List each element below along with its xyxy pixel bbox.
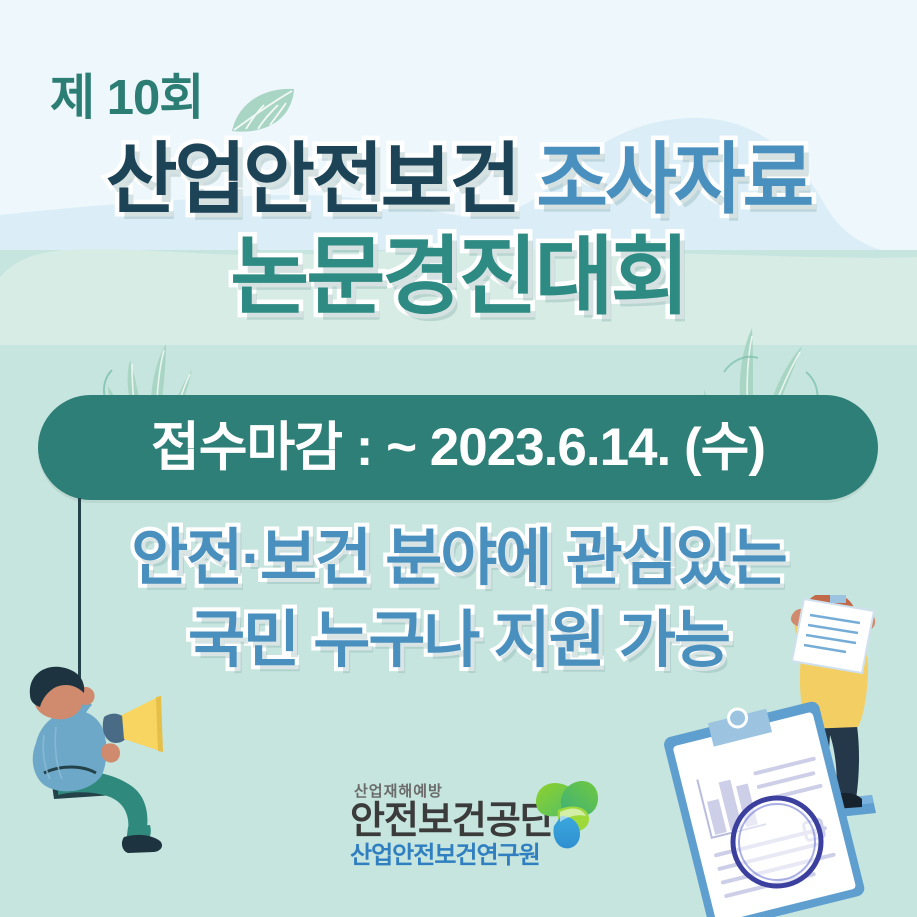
- deadline-label: 접수마감 : ~ 2023.6.14. (수): [151, 421, 765, 474]
- title-word-survey-data: 조사자료: [536, 140, 811, 218]
- subheadline-line-1: 안전·보건 분야에 관심있는: [0, 528, 917, 590]
- leaf-beside-kicker: [228, 85, 298, 137]
- kicker-text: 제 10회: [50, 74, 203, 123]
- title-line-1: 산업안전보건 조사자료: [0, 140, 917, 218]
- kosha-pinwheel-mark: [528, 776, 606, 854]
- title-word-paper-competition: 논문경진대회: [230, 234, 687, 320]
- poster-canvas: 제 10회 산업안전보건 조사자료 논문경진대회 접수마감 : ~ 2023.6…: [0, 0, 917, 917]
- title-line-2: 논문경진대회: [0, 234, 917, 320]
- title-word-industrial-safety-health: 산업안전보건: [106, 140, 519, 218]
- person-with-clipboard-and-magnifier-illustration: [650, 595, 917, 917]
- deadline-banner: 접수마감 : ~ 2023.6.14. (수): [38, 395, 878, 500]
- person-on-rope-with-megaphone-illustration: [0, 655, 230, 917]
- title-block: 산업안전보건 조사자료 논문경진대회: [0, 140, 917, 320]
